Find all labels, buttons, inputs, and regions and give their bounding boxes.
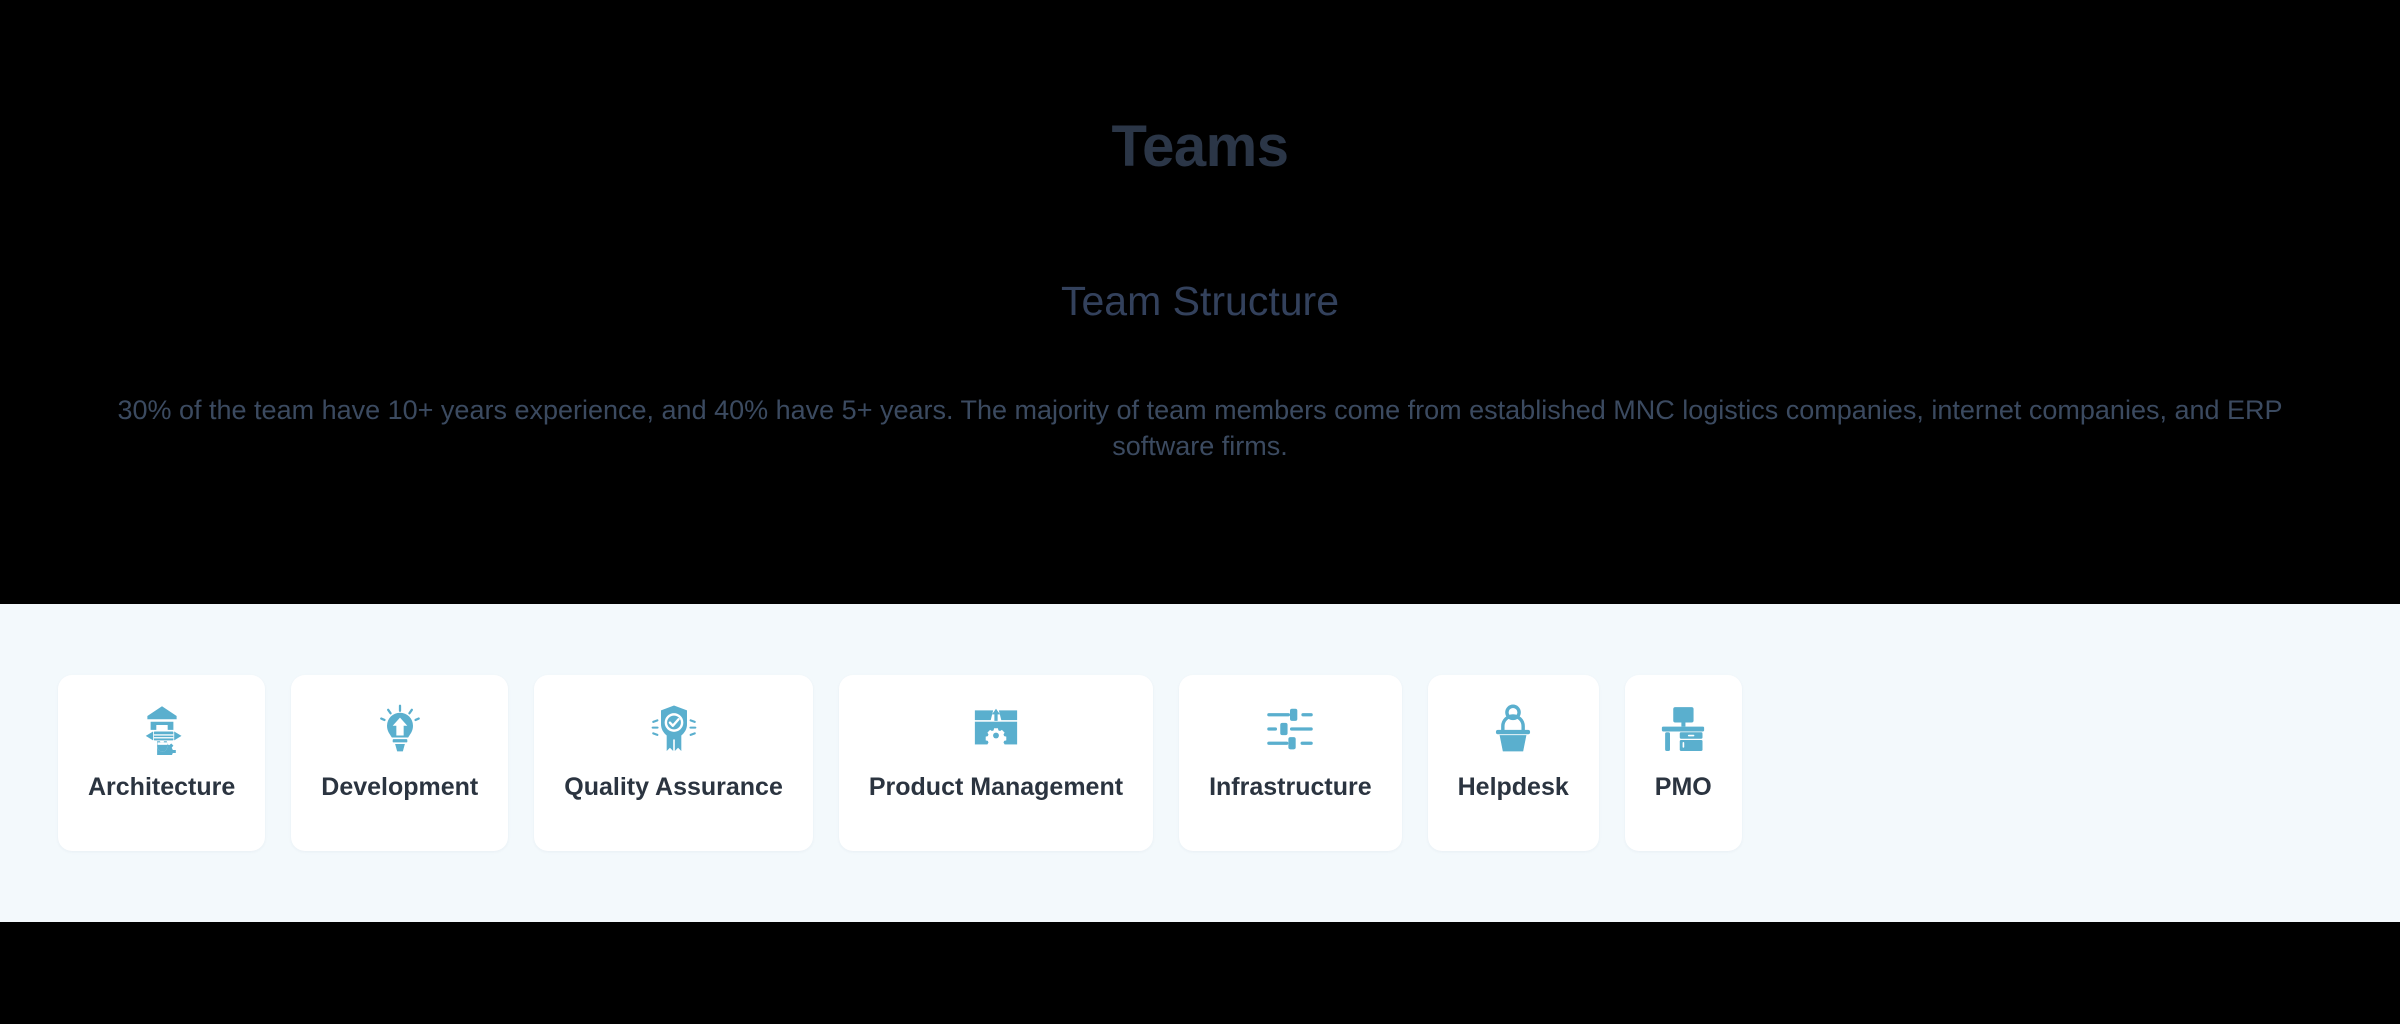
teams-card-row: Architecture	[58, 675, 1742, 851]
team-card-label: Product Management	[869, 775, 1123, 800]
team-card-label: Development	[321, 775, 478, 800]
desk-monitor-icon	[1657, 703, 1709, 755]
team-card-architecture[interactable]: Architecture	[58, 675, 265, 851]
footer-spacer	[0, 922, 2400, 1024]
box-gear-icon	[970, 703, 1022, 755]
team-card-infrastructure[interactable]: Infrastructure	[1179, 675, 1402, 851]
section-description: 30% of the team have 10+ years experienc…	[100, 393, 2300, 464]
teams-page: Teams Team Structure 30% of the team hav…	[0, 0, 2400, 1024]
page-title: Teams	[1112, 118, 1289, 176]
team-card-development[interactable]: Development	[291, 675, 508, 851]
sliders-icon	[1264, 703, 1316, 755]
person-desk-icon	[1487, 703, 1539, 755]
team-card-label: Helpdesk	[1458, 775, 1569, 800]
lightbulb-arrow-icon	[374, 703, 426, 755]
team-card-label: Architecture	[88, 775, 235, 800]
teams-card-band: Architecture	[0, 604, 2400, 922]
section-subtitle: Team Structure	[1061, 281, 1339, 322]
hero-section: Teams Team Structure 30% of the team hav…	[0, 0, 2400, 604]
team-card-helpdesk[interactable]: Helpdesk	[1428, 675, 1599, 851]
architecture-icon	[136, 703, 188, 755]
team-card-product-management[interactable]: Product Management	[839, 675, 1153, 851]
team-card-quality-assurance[interactable]: Quality Assurance	[534, 675, 813, 851]
team-card-pmo[interactable]: PMO	[1625, 675, 1742, 851]
team-card-label: PMO	[1655, 775, 1712, 800]
team-card-label: Infrastructure	[1209, 775, 1372, 800]
award-badge-check-icon	[648, 703, 700, 755]
team-card-label: Quality Assurance	[564, 775, 783, 800]
